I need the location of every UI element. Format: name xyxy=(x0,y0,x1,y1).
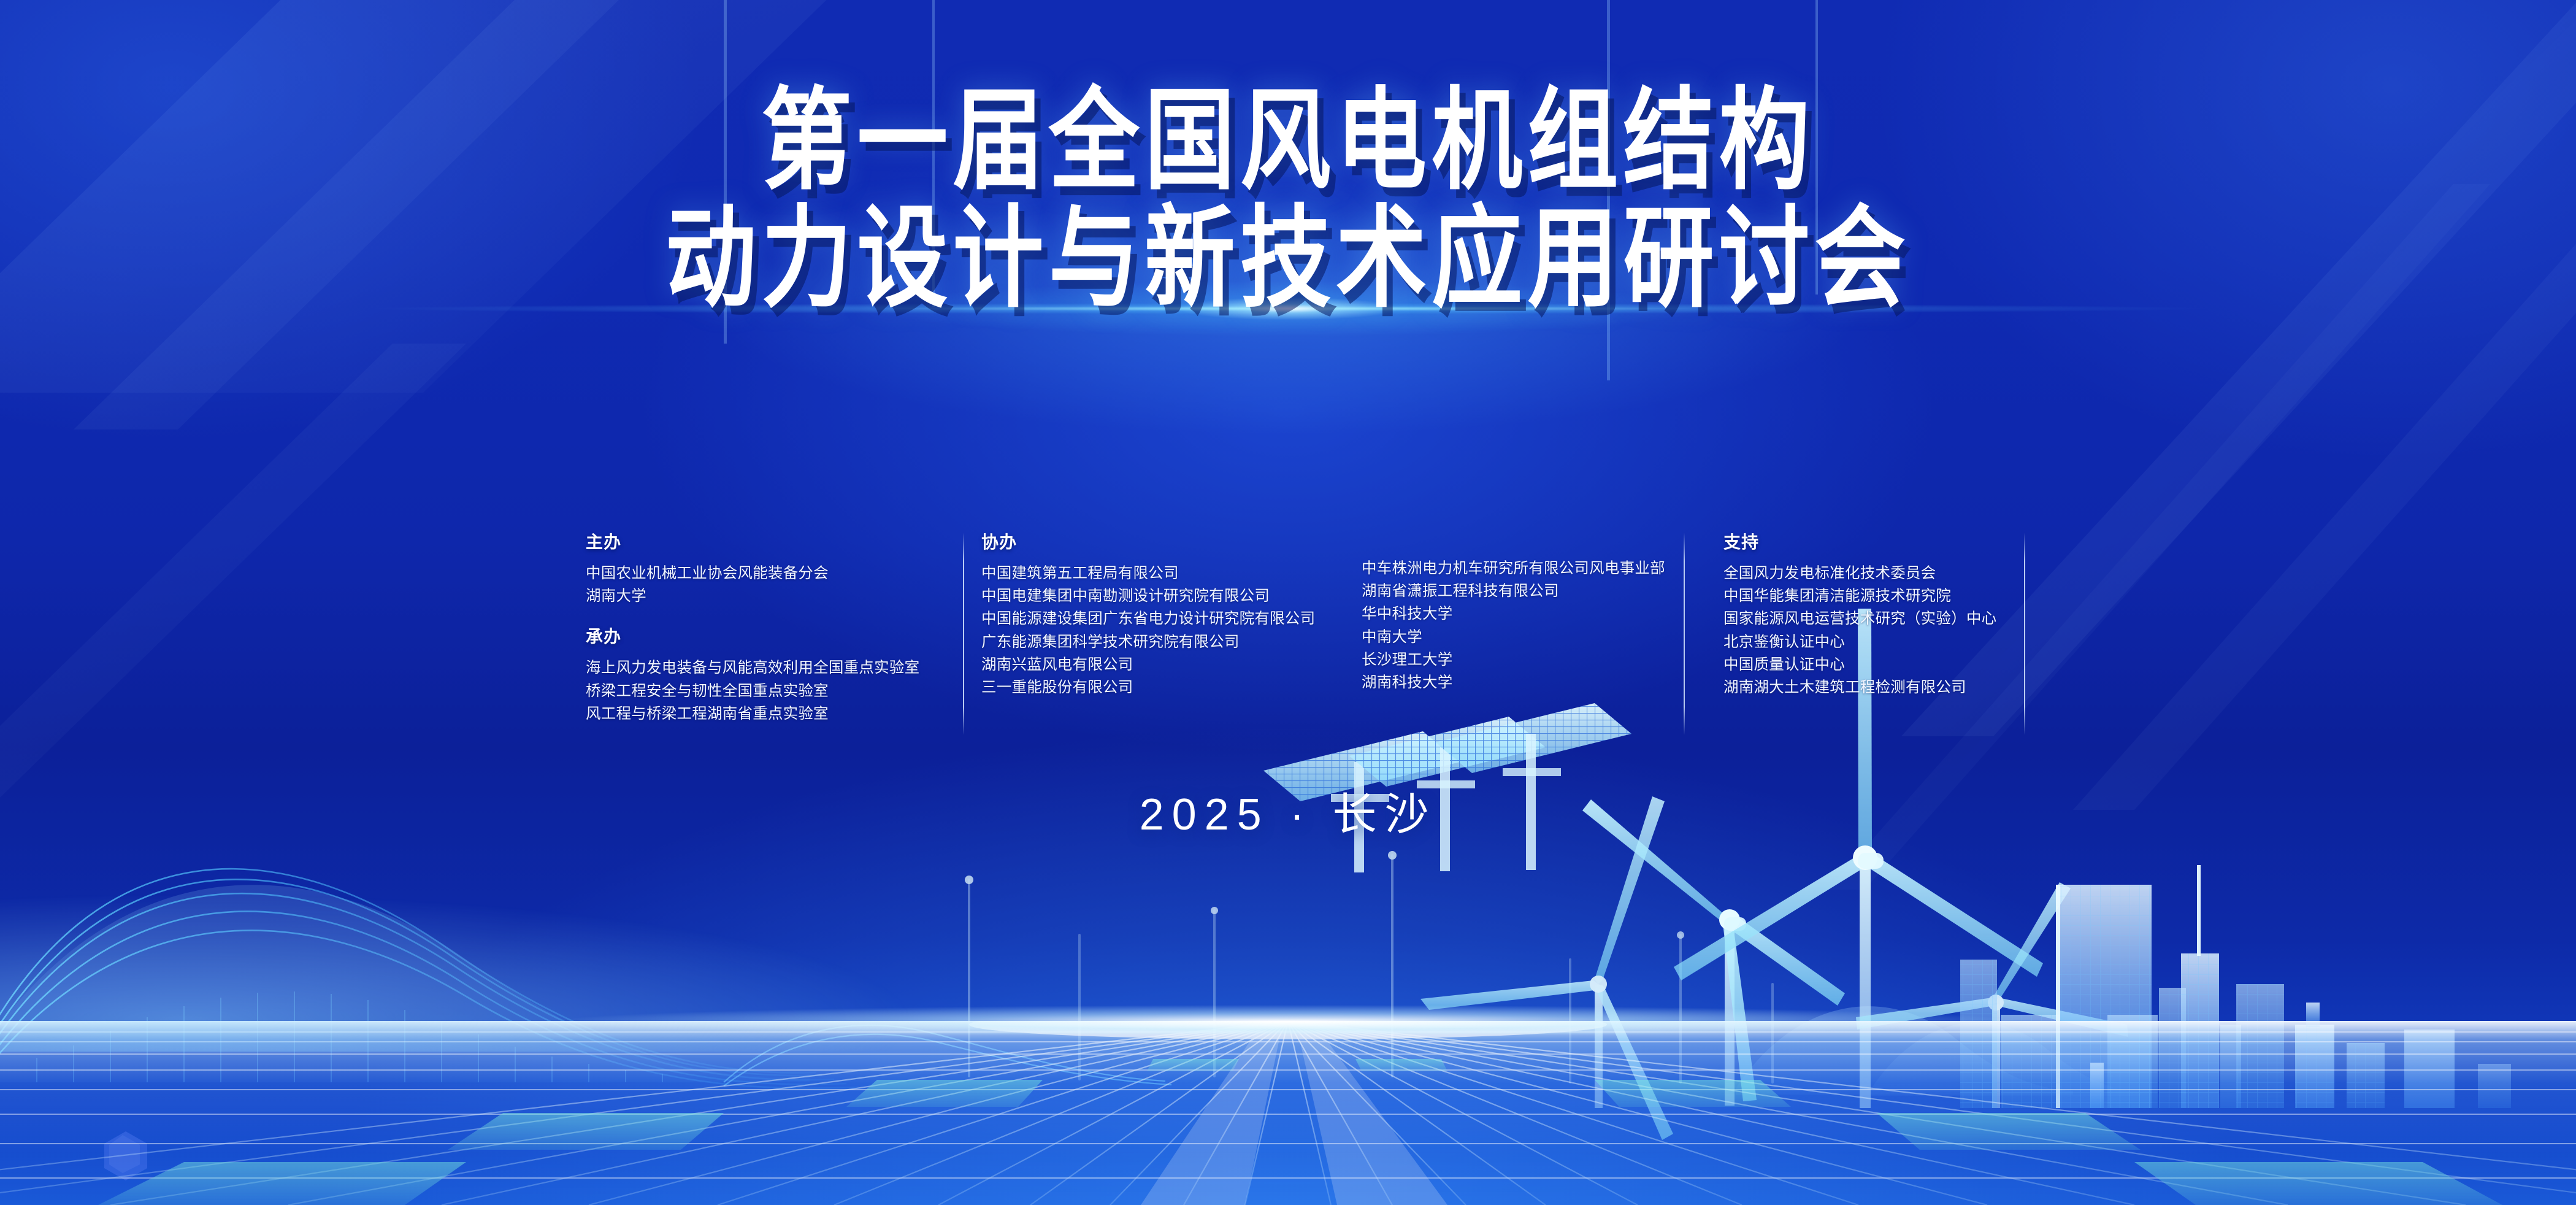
wind-turbine-icon xyxy=(1582,799,1845,1106)
list-item: 中国能源建设集团广东省电力设计研究院有限公司 xyxy=(981,607,1325,630)
wind-turbine-icon xyxy=(1856,882,2128,1108)
list-item: 中南大学 xyxy=(1362,626,1705,649)
city-skyline-icon xyxy=(1960,865,2511,1108)
list-item: 中国质量认证中心 xyxy=(1723,653,2058,676)
title-line-1: 第一届全国风电机组结构 xyxy=(0,86,2576,197)
organizer-column-support: 支持 全国风力发电标准化技术委员会 中国华能集团清洁能源技术研究院 国家能源风电… xyxy=(1723,529,2058,699)
perspective-grid-floor-icon xyxy=(0,1021,2576,1205)
reflective-floor xyxy=(0,1021,2576,1205)
list-item: 中国农业机械工业协会风能装备分会 xyxy=(586,562,948,585)
list-item: 风工程与桥梁工程湖南省重点实验室 xyxy=(586,703,948,725)
organizer-column-host: 主办 中国农业机械工业协会风能装备分会 湖南大学 承办 海上风力发电装备与风能高… xyxy=(586,529,948,725)
list-item: 全国风力发电标准化技术委员会 xyxy=(1723,562,2058,585)
list-item: 长沙理工大学 xyxy=(1362,649,1705,671)
list-item: 北京鉴衡认证中心 xyxy=(1723,631,2058,653)
page-title: 第一届全国风电机组结构 动力设计与新技术应用研讨会 xyxy=(0,86,2576,295)
list-item: 广东能源集团科学技术研究院有限公司 xyxy=(981,631,1325,653)
organizer-column-coorganizer-b: 中车株洲电力机车研究所有限公司风电事业部 湖南省潇振工程科技有限公司 华中科技大… xyxy=(1362,529,1705,694)
hill-shape xyxy=(1736,1006,2141,1096)
organizer-column-coorganizer-a: 协办 中国建筑第五工程局有限公司 中国电建集团中南勘测设计研究院有限公司 中国能… xyxy=(981,529,1325,699)
list-item: 中国电建集团中南勘测设计研究院有限公司 xyxy=(981,585,1325,607)
list-item: 湖南大学 xyxy=(586,585,948,607)
list-item: 华中科技大学 xyxy=(1362,602,1705,625)
list-item: 中国华能集团清洁能源技术研究院 xyxy=(1723,585,2058,607)
light-rod-icon xyxy=(965,851,1773,1082)
coorganizer-heading-spacer xyxy=(1362,529,1705,549)
list-item: 中国建筑第五工程局有限公司 xyxy=(981,562,1325,585)
conference-banner: 第一届全国风电机组结构 动力设计与新技术应用研讨会 主办 中国农业机械工业协会风… xyxy=(0,0,2576,1205)
list-item: 中车株洲电力机车研究所有限公司风电事业部 xyxy=(1362,557,1705,580)
list-item: 桥梁工程安全与韧性全国重点实验室 xyxy=(586,680,948,703)
list-item: 湖南湖大土木建筑工程检测有限公司 xyxy=(1723,676,2058,699)
list-item: 湖南省潇振工程科技有限公司 xyxy=(1362,580,1705,602)
list-item: 湖南兴蓝风电有限公司 xyxy=(981,653,1325,676)
host-heading: 主办 xyxy=(586,529,948,553)
column-divider xyxy=(963,533,964,735)
list-item: 海上风力发电装备与风能高效利用全国重点实验室 xyxy=(586,656,948,679)
undertaker-heading: 承办 xyxy=(586,623,948,648)
title-line-2: 动力设计与新技术应用研讨会 xyxy=(0,204,2576,315)
support-heading: 支持 xyxy=(1723,529,2058,553)
coorganizer-heading: 协办 xyxy=(981,529,1325,553)
date-location: 2025 · 长沙 xyxy=(0,778,2576,842)
wave-mesh-icon xyxy=(0,869,1171,1088)
horizon-haze xyxy=(0,892,920,1052)
list-item: 三一重能股份有限公司 xyxy=(981,676,1325,699)
bokeh-shape xyxy=(104,1131,147,1180)
wind-turbine-icon xyxy=(1420,796,1673,1140)
organizers-block: 主办 中国农业机械工业协会风能装备分会 湖南大学 承办 海上风力发电装备与风能高… xyxy=(586,529,2058,744)
list-item: 湖南科技大学 xyxy=(1362,671,1705,694)
list-item: 国家能源风电运营技术研究（实验）中心 xyxy=(1723,607,2058,630)
horizon-glow xyxy=(0,991,2576,1034)
